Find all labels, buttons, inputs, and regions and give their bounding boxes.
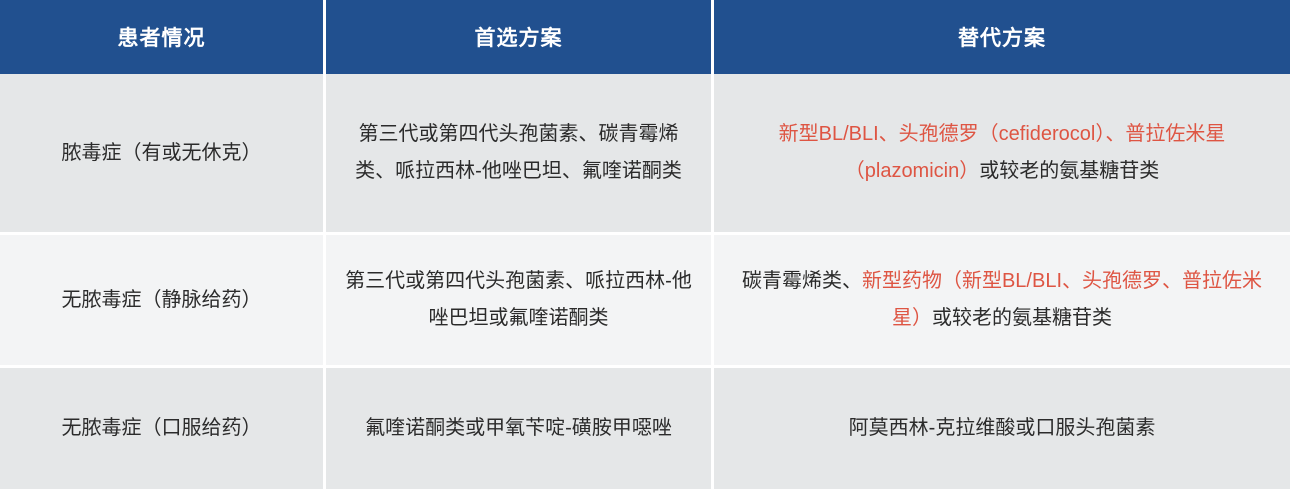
table-header-row: 患者情况 首选方案 替代方案 <box>0 0 1290 74</box>
cell-preferred-regimen: 第三代或第四代头孢菌素、碳青霉烯类、哌拉西林-他唑巴坦、氟喹诺酮类 <box>326 74 714 235</box>
treatment-regimen-table: 患者情况 首选方案 替代方案 脓毒症（有或无休克） 第三代或第四代头孢菌素、碳青… <box>0 0 1290 492</box>
treatment-regimen-table-container: 患者情况 首选方案 替代方案 脓毒症（有或无休克） 第三代或第四代头孢菌素、碳青… <box>0 0 1290 492</box>
cell-patient-condition: 脓毒症（有或无休克） <box>0 74 326 235</box>
cell-alternative-regimen: 阿莫西林-克拉维酸或口服头孢菌素 <box>714 368 1290 492</box>
table-row: 无脓毒症（口服给药） 氟喹诺酮类或甲氧苄啶-磺胺甲噁唑 阿莫西林-克拉维酸或口服… <box>0 368 1290 492</box>
cell-alternative-regimen: 新型BL/BLI、头孢德罗（cefiderocol）、普拉佐米星（plazomi… <box>714 74 1290 235</box>
text-run: 或较老的氨基糖苷类 <box>979 160 1159 182</box>
header-alternative-regimen: 替代方案 <box>714 0 1290 74</box>
cell-preferred-regimen: 第三代或第四代头孢菌素、哌拉西林-他唑巴坦或氟喹诺酮类 <box>326 235 714 368</box>
header-preferred-regimen: 首选方案 <box>326 0 714 74</box>
cell-alternative-regimen: 碳青霉烯类、新型药物（新型BL/BLI、头孢德罗、普拉佐米星）或较老的氨基糖苷类 <box>714 235 1290 368</box>
text-run: 碳青霉烯类、 <box>742 270 862 292</box>
cell-patient-condition: 无脓毒症（静脉给药） <box>0 235 326 368</box>
text-run: 阿莫西林-克拉维酸或口服头孢菌素 <box>849 417 1156 439</box>
cell-preferred-regimen: 氟喹诺酮类或甲氧苄啶-磺胺甲噁唑 <box>326 368 714 492</box>
cell-patient-condition: 无脓毒症（口服给药） <box>0 368 326 492</box>
table-row: 脓毒症（有或无休克） 第三代或第四代头孢菌素、碳青霉烯类、哌拉西林-他唑巴坦、氟… <box>0 74 1290 235</box>
table-header: 患者情况 首选方案 替代方案 <box>0 0 1290 74</box>
table-row: 无脓毒症（静脉给药） 第三代或第四代头孢菌素、哌拉西林-他唑巴坦或氟喹诺酮类 碳… <box>0 235 1290 368</box>
header-patient-condition: 患者情况 <box>0 0 326 74</box>
table-body: 脓毒症（有或无休克） 第三代或第四代头孢菌素、碳青霉烯类、哌拉西林-他唑巴坦、氟… <box>0 74 1290 492</box>
text-run: 或较老的氨基糖苷类 <box>932 307 1112 329</box>
